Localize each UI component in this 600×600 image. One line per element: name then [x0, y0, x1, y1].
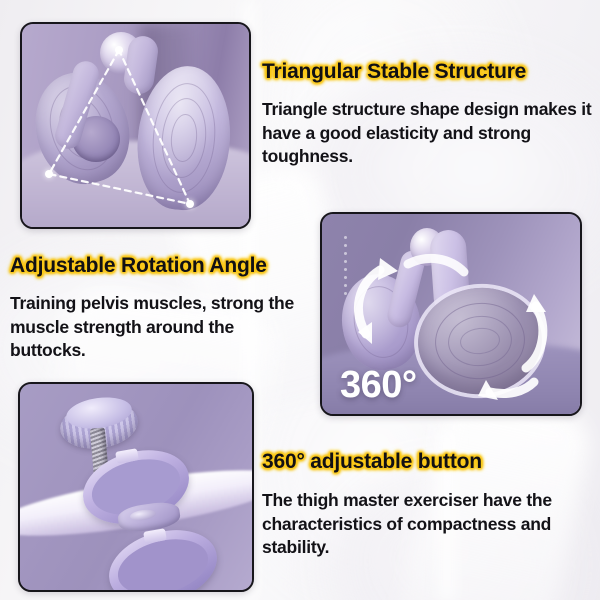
section-heading: 360° adjustable button [262, 450, 482, 473]
section-adjustable-rotation-angle: Adjustable Rotation Angle Training pelvi… [10, 252, 310, 362]
product-infographic: Triangular Stable Structure Triangle str… [0, 0, 600, 600]
panel-overlay-360-label: 360° [340, 366, 417, 404]
heading-row: 360° adjustable button [262, 448, 594, 476]
adjustable-button-photo [18, 382, 254, 592]
triangle-vertex-dot [45, 170, 53, 178]
rotation-angle-photo: 360° [320, 212, 582, 416]
section-heading: Triangular Stable Structure [262, 60, 526, 83]
section-body: The thigh master exerciser have the char… [262, 489, 594, 559]
triangle-structure-photo [20, 22, 251, 229]
triangle-vertex-dot [115, 46, 123, 54]
section-heading: Adjustable Rotation Angle [10, 254, 267, 277]
dashed-triangle-overlay [22, 24, 249, 227]
heading-row: Adjustable Rotation Angle [10, 252, 310, 280]
heading-row: Triangular Stable Structure [262, 58, 594, 86]
triangle-vertex-dot [186, 200, 194, 208]
section-triangular-stable-structure: Triangular Stable Structure Triangle str… [262, 58, 594, 168]
section-body: Triangle structure shape design makes it… [262, 98, 594, 168]
section-body: Training pelvis muscles, strong the musc… [10, 292, 310, 362]
section-adjustable-button: 360° adjustable button The thigh master … [262, 448, 594, 559]
